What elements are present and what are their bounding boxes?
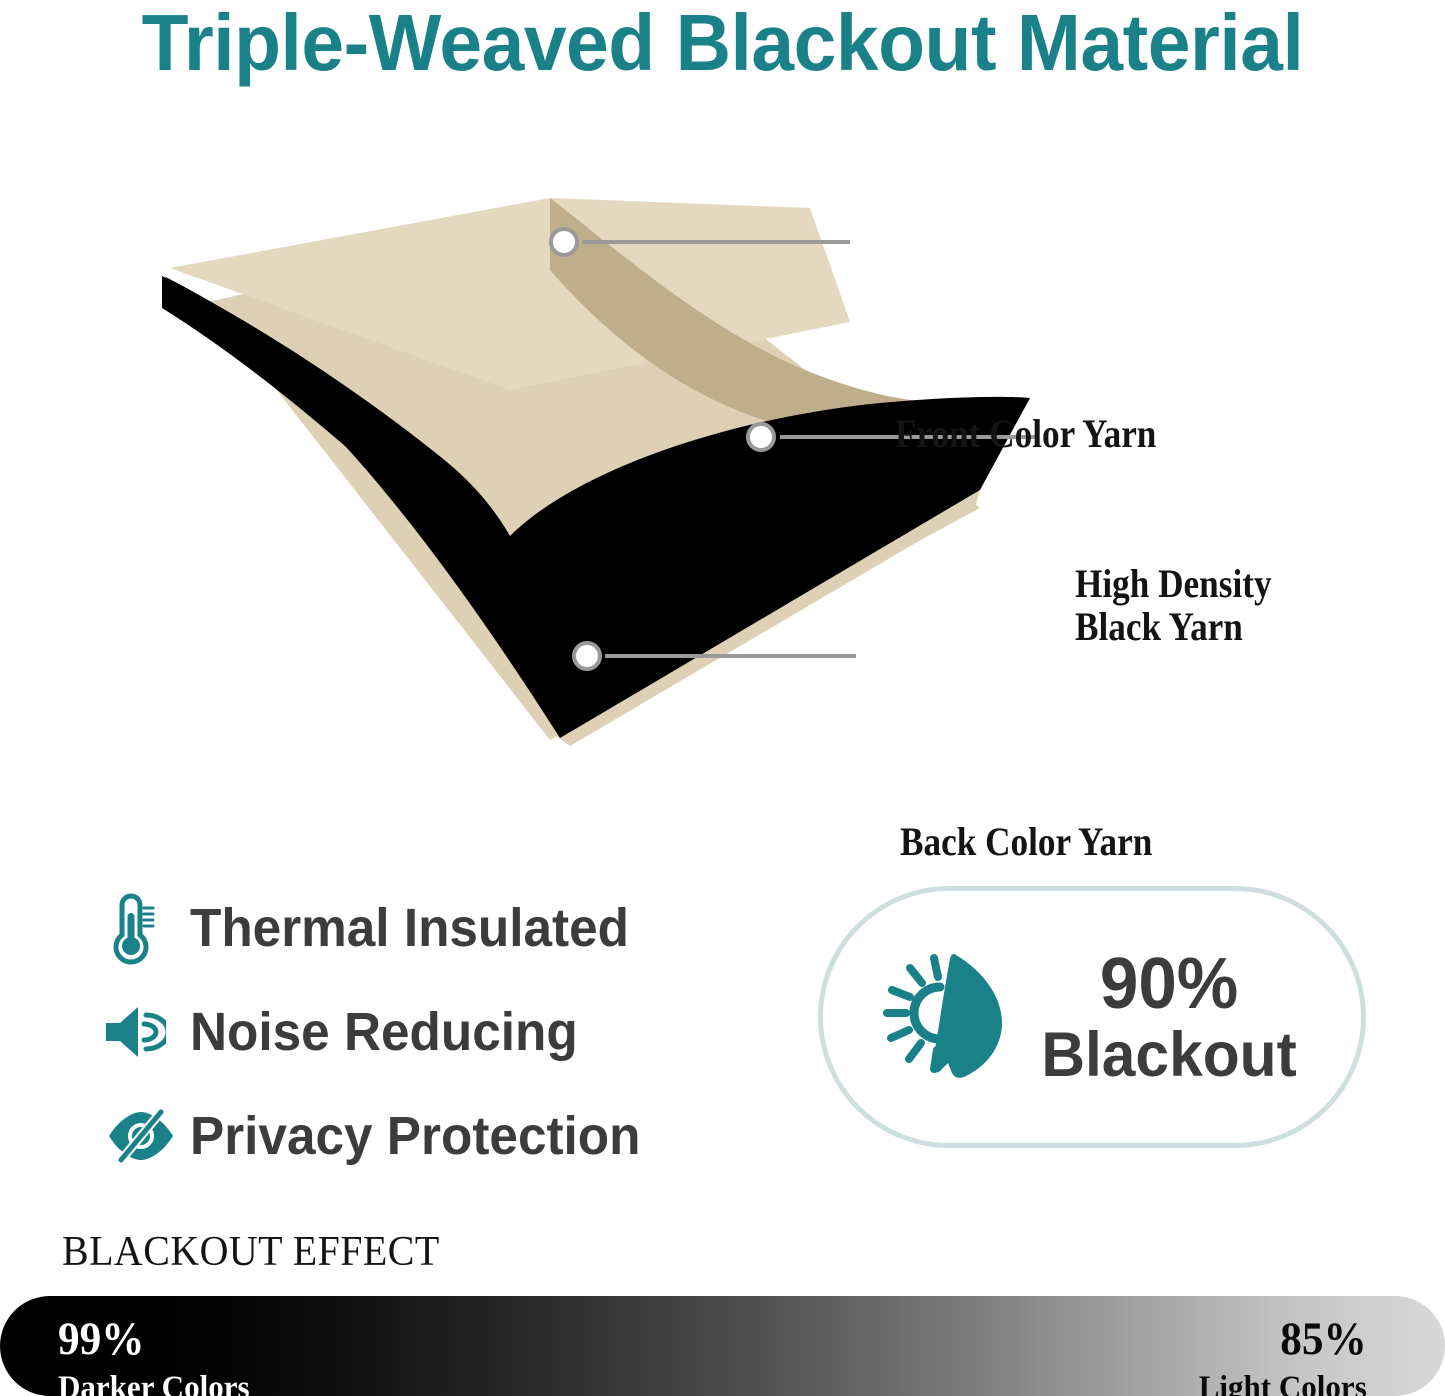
feature-item-noise-reducing: Noise Reducing (104, 980, 764, 1084)
page-title: Triple-Weaved Blackout Material (29, 0, 1416, 86)
speaker-sound-icon (104, 1003, 182, 1061)
sun-blocked-icon (882, 947, 1010, 1087)
blackout-word-label: Blackout (1041, 1024, 1296, 1087)
thermometer-icon (104, 891, 182, 965)
callout-label-line-2: Black Yarn (1075, 605, 1272, 648)
gradient-bar-left-stat: 99% Darker Colors (58, 1316, 262, 1396)
feature-item-privacy-protection: Privacy Protection (104, 1084, 764, 1188)
eye-slash-icon (104, 1108, 182, 1164)
feature-label-noise-reducing: Noise Reducing (190, 1001, 578, 1063)
light-colors-label: Light Colors (1199, 1372, 1367, 1396)
feature-label-thermal-insulated: Thermal Insulated (190, 897, 629, 959)
feature-item-thermal-insulated: Thermal Insulated (104, 876, 764, 980)
product-infographic: Triple-Weaved Blackout Material (0, 0, 1445, 1396)
light-colors-percent: 85% (1203, 1316, 1367, 1363)
callout-label-front: Front Color Yarn (895, 412, 1156, 455)
callout-label-line-1: High Density (1075, 562, 1272, 605)
darker-colors-percent: 99% (58, 1316, 245, 1363)
callout-label-high-density-black-yarn: High Density Black Yarn (1075, 562, 1272, 648)
callout-label-back: Back Color Yarn (900, 820, 1152, 863)
blackout-percent-value: 90% (1100, 948, 1238, 1020)
blackout-badge-text: 90% Blackout (1036, 948, 1302, 1087)
feature-label-privacy-protection: Privacy Protection (190, 1105, 640, 1167)
gradient-bar-right-stat: 85% Light Colors (1188, 1316, 1367, 1396)
callout-marker-black (748, 424, 774, 450)
fabric-layers-diagram: Front Color Yarn High Density Black Yarn… (150, 190, 1390, 750)
blackout-percentage-badge: 90% Blackout (818, 886, 1366, 1148)
callout-marker-front (551, 229, 577, 255)
blackout-effect-gradient-bar: 99% Darker Colors 85% Light Colors (0, 1296, 1445, 1396)
blackout-effect-section-title: BLACKOUT EFFECT (62, 1228, 440, 1276)
callout-marker-back (574, 643, 600, 669)
darker-colors-label: Darker Colors (58, 1372, 250, 1396)
feature-list: Thermal Insulated Noise Reducing (104, 876, 764, 1188)
